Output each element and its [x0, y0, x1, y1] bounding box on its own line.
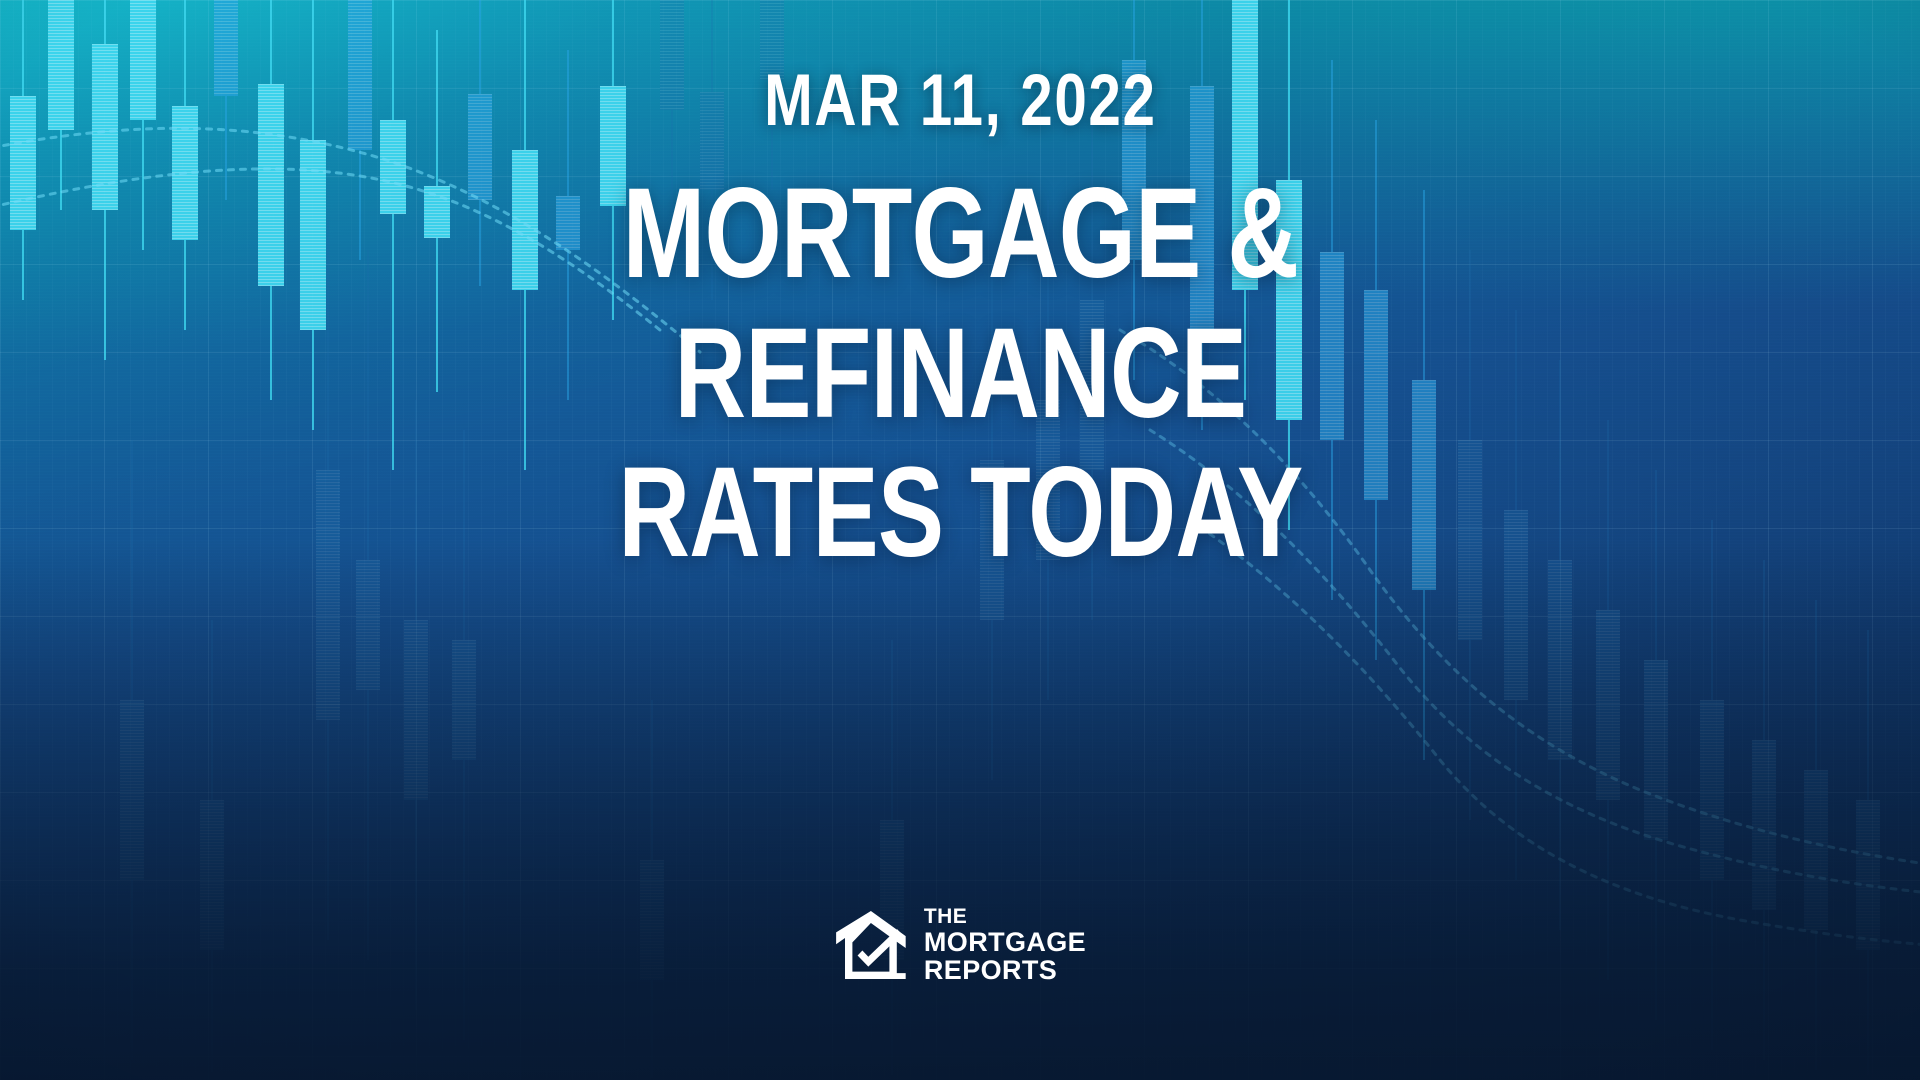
house-checkmark-icon: [834, 908, 908, 982]
promo-banner: MAR 11, 2022 MORTGAGE & REFINANCE RATES …: [0, 0, 1920, 1080]
logo-line-the: THE: [924, 905, 1086, 928]
logo-line-mortgage: MORTGAGE: [924, 928, 1086, 956]
banner-headline: MORTGAGE & REFINANCE RATES TODAY: [519, 164, 1402, 583]
logo-line-reports: REPORTS: [924, 956, 1086, 984]
logo-wordmark: THE MORTGAGE REPORTS: [924, 905, 1086, 984]
headline-line-3: RATES TODAY: [618, 443, 1302, 583]
headline-line-1: MORTGAGE &: [618, 164, 1302, 304]
banner-date: MAR 11, 2022: [764, 66, 1157, 136]
headline-line-2: REFINANCE: [618, 304, 1302, 444]
brand-logo[interactable]: THE MORTGAGE REPORTS: [834, 905, 1086, 984]
